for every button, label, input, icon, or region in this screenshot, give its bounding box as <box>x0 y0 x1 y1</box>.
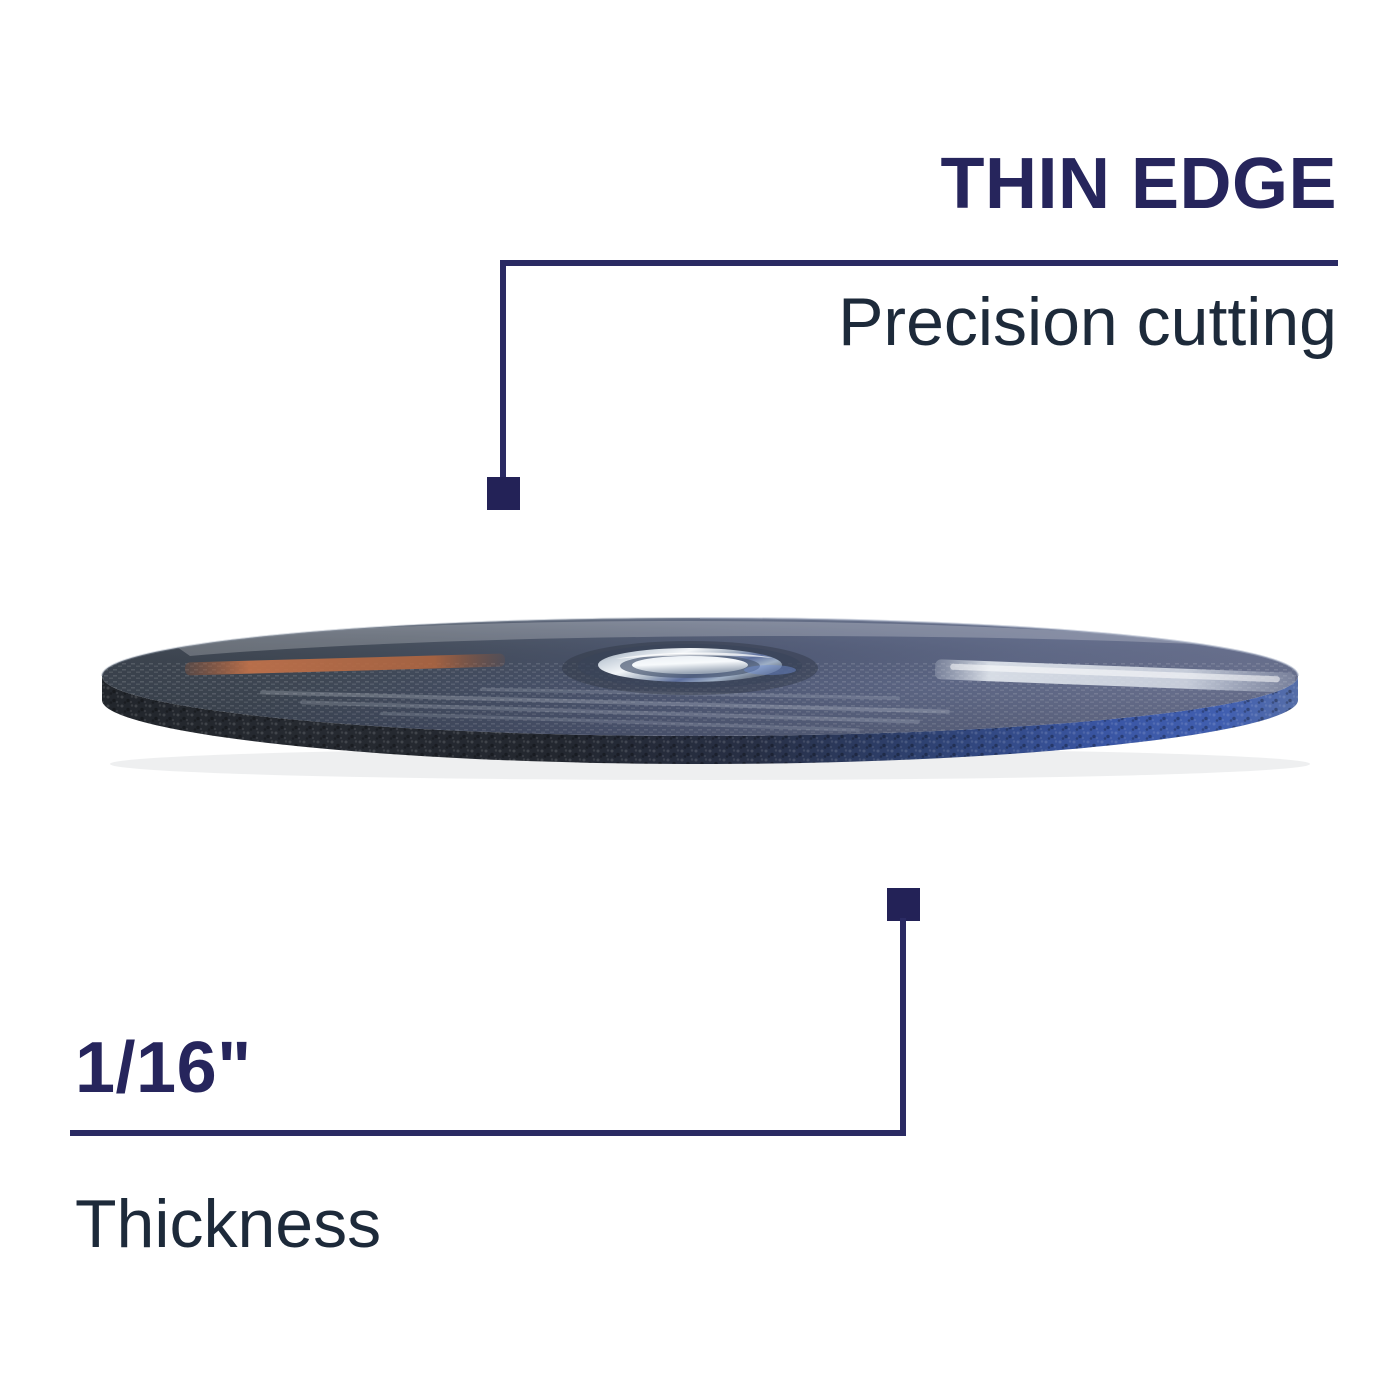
callout-thin-edge: THIN EDGE Precision cutting <box>0 0 1400 620</box>
callout-leader-line-top <box>500 262 506 480</box>
callout-rule-horizontal-bottom <box>70 1130 906 1136</box>
callout-headline-thin-edge: THIN EDGE <box>940 148 1337 220</box>
callout-subline-thin-edge: Precision cutting <box>838 288 1337 356</box>
cutting-disc-illustration <box>50 596 1350 826</box>
product-image-cutting-disc <box>50 596 1350 826</box>
callout-rule-horizontal-top <box>500 260 1338 266</box>
callout-thickness <box>0 820 1400 1400</box>
callout-marker-square-bottom <box>887 888 920 921</box>
callout-leader-line-bottom <box>900 918 906 1136</box>
callout-headline-thickness: 1/16" <box>75 1032 252 1104</box>
disc-arbor-hole <box>562 641 818 695</box>
callout-marker-square-top <box>487 477 520 510</box>
infographic-canvas: THIN EDGE Precision cutting 1/16" Thickn… <box>0 0 1400 1400</box>
callout-subline-thickness: Thickness <box>75 1190 381 1258</box>
